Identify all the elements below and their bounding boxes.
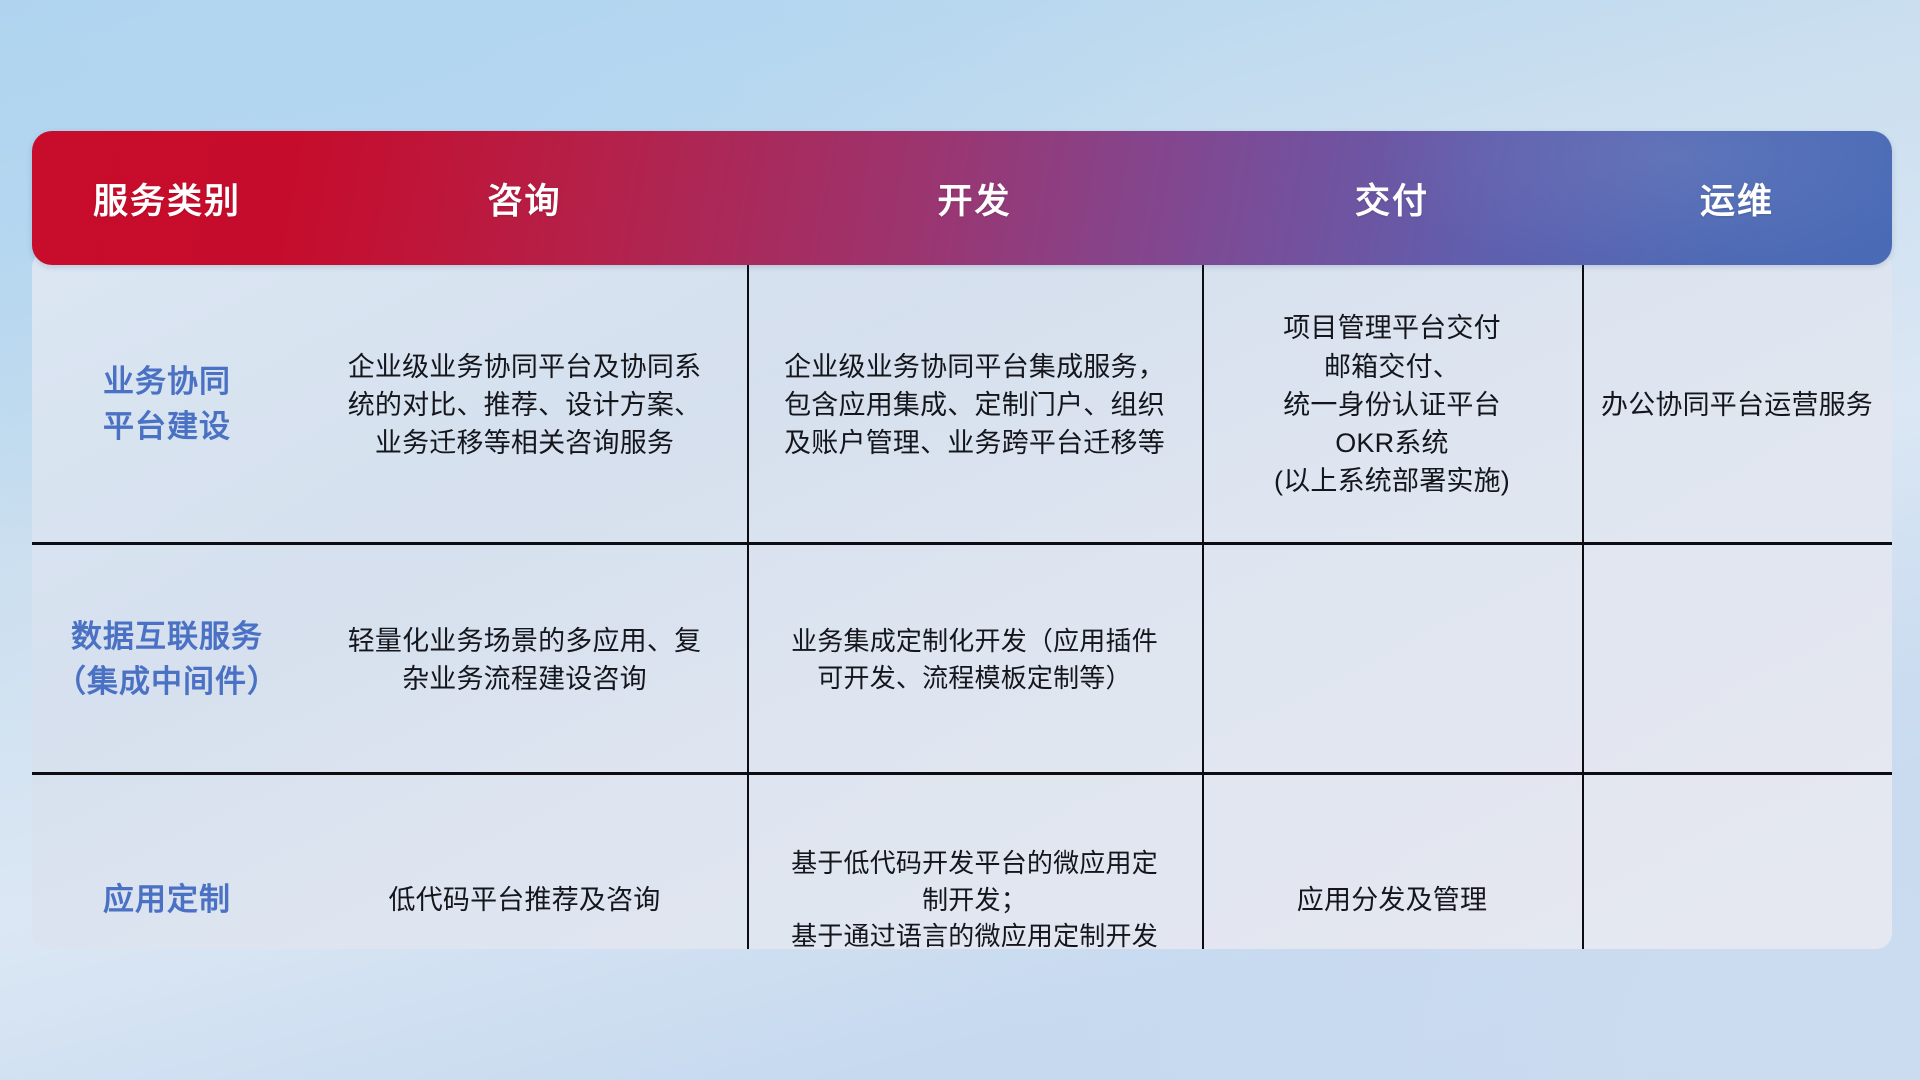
cell-operations bbox=[1582, 775, 1892, 949]
cell-text: 企业级业务协同平台及协同系 统的对比、推荐、设计方案、 业务迁移等相关咨询服务 bbox=[348, 348, 702, 463]
row-category-label: 应用定制 bbox=[103, 878, 231, 923]
column-header-development: 开发 bbox=[747, 173, 1202, 224]
service-matrix-table: 业务协同 平台建设 企业级业务协同平台及协同系 统的对比、推荐、设计方案、 业务… bbox=[32, 131, 1892, 949]
cell-development: 基于低代码开发平台的微应用定 制开发； 基于通过语言的微应用定制开发 bbox=[747, 775, 1202, 949]
column-header-delivery: 交付 bbox=[1202, 173, 1582, 224]
row-category-cell: 数据互联服务 （集成中间件） bbox=[32, 545, 302, 775]
cell-text: 基于低代码开发平台的微应用定 制开发； 基于通过语言的微应用定制开发 bbox=[791, 845, 1158, 949]
table-body-panel: 业务协同 平台建设 企业级业务协同平台及协同系 统的对比、推荐、设计方案、 业务… bbox=[32, 251, 1892, 949]
cell-delivery bbox=[1202, 545, 1582, 775]
table-row: 应用定制 低代码平台推荐及咨询 基于低代码开发平台的微应用定 制开发； 基于通过… bbox=[32, 775, 1892, 949]
cell-text: 应用分发及管理 bbox=[1297, 881, 1487, 919]
cell-text: 业务集成定制化开发（应用插件 可开发、流程模板定制等） bbox=[791, 623, 1158, 697]
row-category-cell: 应用定制 bbox=[32, 775, 302, 949]
column-header-consulting: 咨询 bbox=[302, 173, 747, 224]
cell-development: 企业级业务协同平台集成服务， 包含应用集成、定制门户、组织 及账户管理、业务跨平… bbox=[747, 265, 1202, 545]
row-category-cell: 业务协同 平台建设 bbox=[32, 265, 302, 545]
column-header-category: 服务类别 bbox=[32, 173, 302, 224]
cell-consulting: 企业级业务协同平台及协同系 统的对比、推荐、设计方案、 业务迁移等相关咨询服务 bbox=[302, 265, 747, 545]
cell-operations bbox=[1582, 545, 1892, 775]
table-row: 数据互联服务 （集成中间件） 轻量化业务场景的多应用、复 杂业务流程建设咨询 业… bbox=[32, 545, 1892, 775]
cell-delivery: 项目管理平台交付 邮箱交付、 统一身份认证平台 OKR系统 (以上系统部署实施) bbox=[1202, 265, 1582, 545]
cell-text: 轻量化业务场景的多应用、复 杂业务流程建设咨询 bbox=[348, 622, 702, 699]
cell-consulting: 轻量化业务场景的多应用、复 杂业务流程建设咨询 bbox=[302, 545, 747, 775]
cell-text: 项目管理平台交付 邮箱交付、 统一身份认证平台 OKR系统 (以上系统部署实施) bbox=[1274, 309, 1510, 501]
cell-consulting: 低代码平台推荐及咨询 bbox=[302, 775, 747, 949]
cell-operations: 办公协同平台运营服务 bbox=[1582, 265, 1892, 545]
cell-text: 办公协同平台运营服务 bbox=[1601, 386, 1873, 424]
table-header-bar: 服务类别 咨询 开发 交付 运维 bbox=[32, 131, 1892, 265]
row-category-label: 业务协同 平台建设 bbox=[103, 360, 231, 450]
cell-text: 企业级业务协同平台集成服务， 包含应用集成、定制门户、组织 及账户管理、业务跨平… bbox=[784, 348, 1165, 463]
table-row: 业务协同 平台建设 企业级业务协同平台及协同系 统的对比、推荐、设计方案、 业务… bbox=[32, 265, 1892, 545]
cell-delivery: 应用分发及管理 bbox=[1202, 775, 1582, 949]
row-category-label: 数据互联服务 （集成中间件） bbox=[55, 615, 279, 705]
cell-development: 业务集成定制化开发（应用插件 可开发、流程模板定制等） bbox=[747, 545, 1202, 775]
column-header-operations: 运维 bbox=[1582, 173, 1892, 224]
cell-text: 低代码平台推荐及咨询 bbox=[389, 881, 661, 919]
